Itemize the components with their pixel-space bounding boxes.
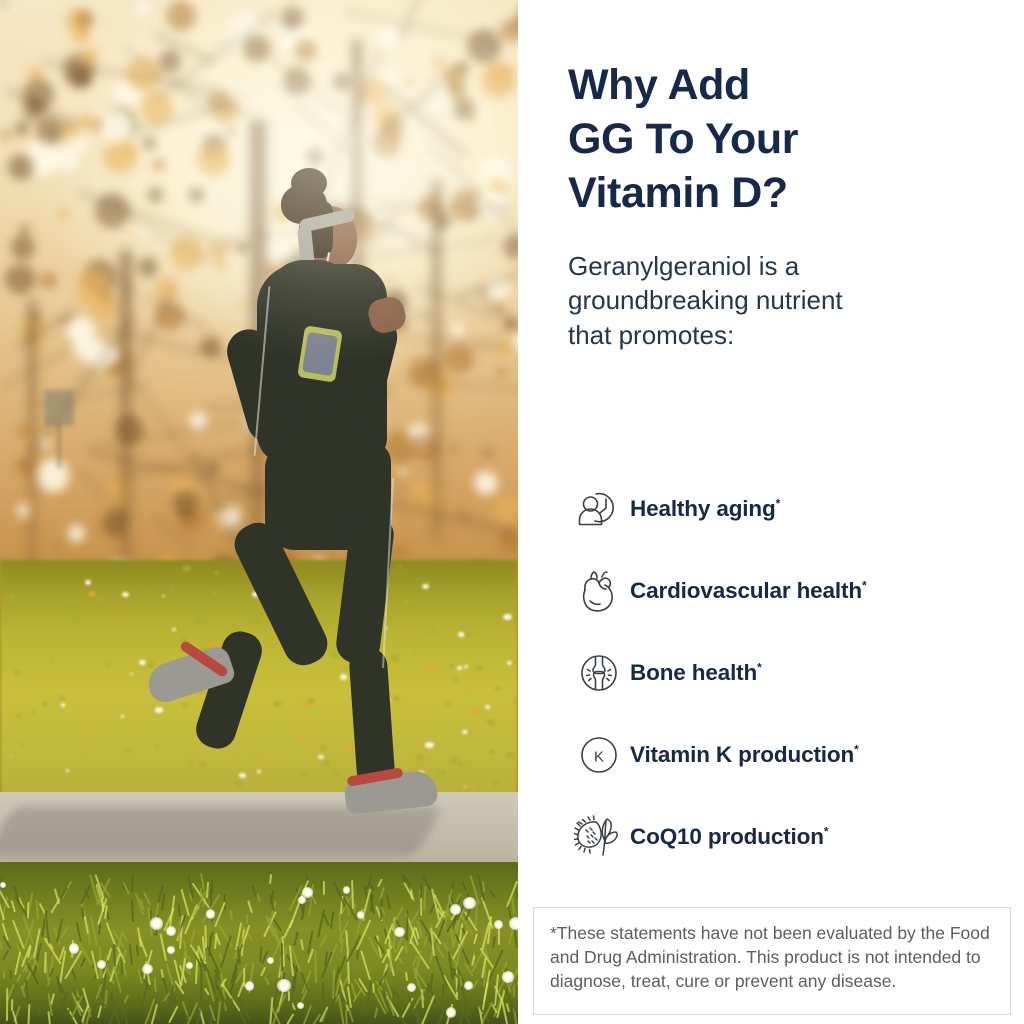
benefit-label: Bone health* [630, 660, 762, 686]
footnote-marker: * [862, 579, 867, 593]
wheat-leaf-icon [568, 808, 630, 866]
footnote-marker: * [757, 661, 762, 675]
background-signpost [44, 390, 74, 426]
subheading-line-2: groundbreaking nutrient [568, 285, 843, 315]
subheading-line-3: that promotes: [568, 320, 734, 350]
benefits-list: Healthy aging* Cardiovascu [568, 468, 1008, 878]
grass-blades [0, 862, 518, 1024]
anatomical-heart-icon [568, 562, 630, 620]
page-title: Why Add GG To Your Vitamin D? [568, 58, 988, 221]
vitamin-k-circle-icon: K [568, 726, 630, 784]
benefit-item-vitamin-k-production: K Vitamin K production* [568, 714, 1008, 796]
footnote-marker: * [854, 743, 859, 757]
benefit-label: CoQ10 production* [630, 824, 828, 850]
content-panel: Why Add GG To Your Vitamin D? Geranylger… [518, 0, 1024, 1024]
benefit-item-bone-health: Bone health* [568, 632, 1008, 714]
benefit-item-cardiovascular-health: Cardiovascular health* [568, 550, 1008, 632]
footnote-marker: * [776, 497, 781, 511]
fda-disclaimer-box: *These statements have not been evaluate… [533, 907, 1011, 1015]
bone-joint-icon [568, 644, 630, 702]
svg-text:K: K [594, 749, 604, 766]
hero-photo [0, 0, 518, 1024]
headline-line-2: GG To Your [568, 115, 798, 163]
benefit-label: Healthy aging* [630, 496, 780, 522]
footnote-marker: * [824, 825, 829, 839]
person-clock-icon [568, 480, 630, 538]
disclaimer-text: *These statements have not been evaluate… [550, 922, 994, 993]
benefit-item-healthy-aging: Healthy aging* [568, 468, 1008, 550]
benefit-item-coq10-production: CoQ10 production* [568, 796, 1008, 878]
marketing-infographic: Why Add GG To Your Vitamin D? Geranylger… [0, 0, 1024, 1024]
headline-line-3: Vitamin D? [568, 169, 788, 217]
runner-figure [195, 178, 485, 838]
headline-line-1: Why Add [568, 61, 750, 109]
subheading: Geranylgeraniol is a groundbreaking nutr… [568, 249, 978, 352]
subheading-line-1: Geranylgeraniol is a [568, 251, 799, 281]
benefit-label: Cardiovascular health* [630, 578, 866, 604]
benefit-label: Vitamin K production* [630, 742, 859, 768]
